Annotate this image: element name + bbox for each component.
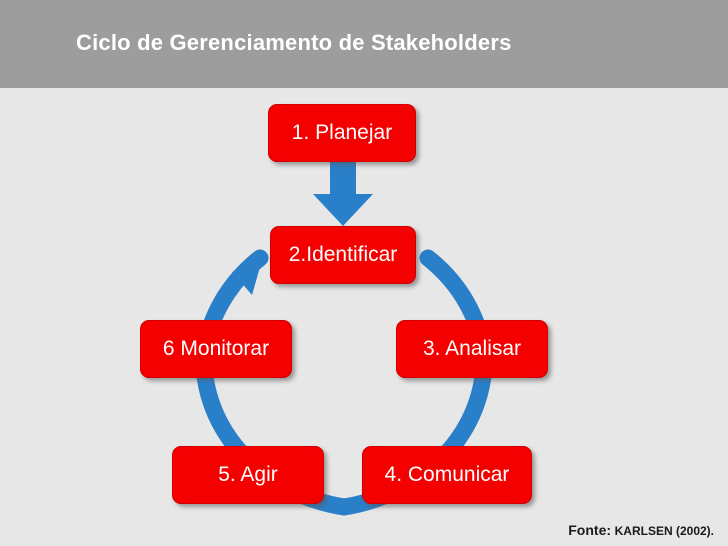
cycle-node-4-label: 4. Comunicar [385,463,510,487]
cycle-node-2-label: 2.Identificar [289,243,398,267]
cycle-node-6-label: 6 Monitorar [163,337,269,361]
page-title: Ciclo de Gerenciamento de Stakeholders [76,30,512,56]
source-reference: KARLSEN (2002). [615,524,714,538]
slide: Ciclo de Gerenciamento de Stakeholders 1… [0,0,728,546]
cycle-node-3-analisar[interactable]: 3. Analisar [396,320,548,378]
cycle-node-1-planejar[interactable]: 1. Planejar [268,104,416,162]
cycle-node-3-label: 3. Analisar [423,337,521,361]
cycle-node-5-label: 5. Agir [218,463,278,487]
cycle-node-4-comunicar[interactable]: 4. Comunicar [362,446,532,504]
stakeholder-cycle-diagram: 1. Planejar 2.Identificar 3. Analisar 4.… [0,88,728,546]
slide-title-bar: Ciclo de Gerenciamento de Stakeholders [0,0,728,88]
cycle-node-2-identificar[interactable]: 2.Identificar [270,226,416,284]
cycle-node-1-label: 1. Planejar [292,121,392,145]
cycle-node-5-agir[interactable]: 5. Agir [172,446,324,504]
source-note: Fonte: KARLSEN (2002). [568,522,714,538]
down-arrow-icon [313,162,373,226]
source-label: Fonte: [568,522,611,538]
cycle-node-6-monitorar[interactable]: 6 Monitorar [140,320,292,378]
